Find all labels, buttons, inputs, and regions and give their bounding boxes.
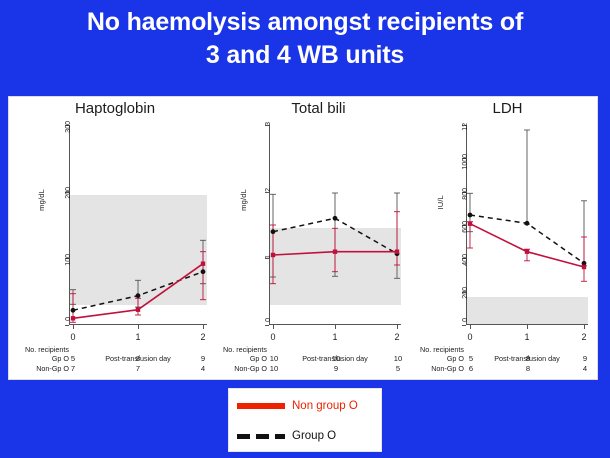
counts-block-ldh: No. recipients Gp O Non-Gp O Post-transf… [416,345,599,379]
count-nongpo-haptoglobin-day0: 7 [71,364,75,373]
y-tick-haptoglobin [65,325,69,326]
panel-title-total-bili: Total bili [221,100,416,117]
chart-panel-ldh: LDH IU/L 12 1000 800 600 400 200 0 [416,97,599,381]
count-gpo-ldh-day1: 8 [526,354,530,363]
x-tick-label-haptoglobin-1: 1 [135,332,140,342]
y-axis-title-haptoglobin: mg/dL [37,189,46,211]
legend-label-group-o: Group O [292,430,336,442]
count-nongpo-total-bili-day2: 5 [396,364,400,373]
counts-label-gpo-ldh: Gp O [416,354,464,363]
slide-root: No haemolysis amongst recipients of 3 an… [0,0,610,458]
x-tick-haptoglobin [138,325,139,329]
counts-label-nongpo-total-bili: Non-Gp O [221,364,267,373]
count-gpo-total-bili-day1: 10 [332,354,340,363]
series-graphic-total-bili [269,125,401,325]
count-gpo-total-bili-day2: 10 [394,354,402,363]
x-tick-label-ldh-1: 1 [524,332,529,342]
title-line-2: 3 and 4 WB units [0,39,610,72]
count-nongpo-haptoglobin-day1: 7 [136,364,140,373]
x-tick-label-total-bili-2: 2 [394,332,399,342]
counts-header-ldh: No. recipients [416,345,464,354]
count-nongpo-ldh-day1: 8 [526,364,530,373]
series-graphic-ldh [466,125,588,325]
count-nongpo-ldh-day0: 6 [469,364,473,373]
legend-line-dashed-icon [237,427,285,445]
counts-label-nongpo-haptoglobin: Non-Gp O [11,364,69,373]
error-bars-group-o-ldh [467,130,587,266]
count-gpo-haptoglobin-day2: 9 [201,354,205,363]
x-tick-haptoglobin [73,325,74,329]
x-tick-label-ldh-2: 2 [581,332,586,342]
counts-row-labels-haptoglobin: No. recipients Gp O Non-Gp O [11,345,69,373]
x-tick-label-ldh-0: 0 [467,332,472,342]
legend-label-non-group-o: Non group O [292,400,358,412]
count-gpo-haptoglobin-day0: 5 [71,354,75,363]
chart-panel-total-bili: Total bili mg/dL 3 2 1 0 0 1 2 [221,97,416,381]
x-tick-label-total-bili-0: 0 [270,332,275,342]
count-nongpo-haptoglobin-day2: 4 [201,364,205,373]
count-gpo-ldh-day2: 9 [583,354,587,363]
plot-area-total-bili: 3 2 1 0 0 1 2 [269,125,401,325]
count-nongpo-total-bili-day0: 10 [270,364,278,373]
count-gpo-total-bili-day0: 10 [270,354,278,363]
count-nongpo-ldh-day2: 4 [583,364,587,373]
series-graphic-haptoglobin [69,125,207,325]
counts-block-total-bili: No. recipients Gp O Non-Gp O Post-transf… [221,345,416,379]
counts-header-total-bili: No. recipients [221,345,267,354]
title-line-1: No haemolysis amongst recipients of [87,8,523,36]
x-tick-total-bili [397,325,398,329]
x-tick-total-bili [273,325,274,329]
count-gpo-haptoglobin-day1: 8 [136,354,140,363]
counts-row-labels-ldh: No. recipients Gp O Non-Gp O [416,345,464,373]
x-tick-label-haptoglobin-0: 0 [70,332,75,342]
chart-canvas: Haptoglobin mg/dL 300 200 100 0 0 1 [8,96,598,380]
panel-title-ldh: LDH [416,100,599,117]
x-tick-label-haptoglobin-2: 2 [200,332,205,342]
y-axis-title-ldh: IU/L [436,195,445,210]
panel-title-haptoglobin: Haptoglobin [9,100,221,117]
x-tick-ldh [527,325,528,329]
count-nongpo-total-bili-day1: 9 [334,364,338,373]
y-tick-total-bili [265,325,269,326]
x-tick-ldh [584,325,585,329]
chart-legend: Non group O Group O [228,388,382,452]
x-tick-total-bili [335,325,336,329]
x-tick-ldh [470,325,471,329]
counts-label-nongpo-ldh: Non-Gp O [416,364,464,373]
plot-area-haptoglobin: 300 200 100 0 0 1 2 [69,125,207,325]
counts-header-haptoglobin: No. recipients [11,345,69,354]
count-gpo-ldh-day0: 5 [469,354,473,363]
y-axis-title-total-bili: mg/dL [239,189,248,211]
page-title: No haemolysis amongst recipients of 3 an… [0,6,610,72]
legend-item-group-o: Group O [229,423,381,449]
counts-label-gpo-haptoglobin: Gp O [11,354,69,363]
y-tick-ldh [462,325,466,326]
legend-line-solid-icon [237,397,285,415]
chart-panel-haptoglobin: Haptoglobin mg/dL 300 200 100 0 0 1 [9,97,221,381]
counts-row-labels-total-bili: No. recipients Gp O Non-Gp O [221,345,267,373]
plot-area-ldh: 12 1000 800 600 400 200 0 0 1 2 [466,125,588,325]
counts-label-gpo-total-bili: Gp O [221,354,267,363]
x-tick-label-total-bili-1: 1 [332,332,337,342]
counts-block-haptoglobin: No. recipients Gp O Non-Gp O Post-transf… [9,345,221,379]
x-tick-haptoglobin [203,325,204,329]
legend-item-non-group-o: Non group O [229,393,381,419]
